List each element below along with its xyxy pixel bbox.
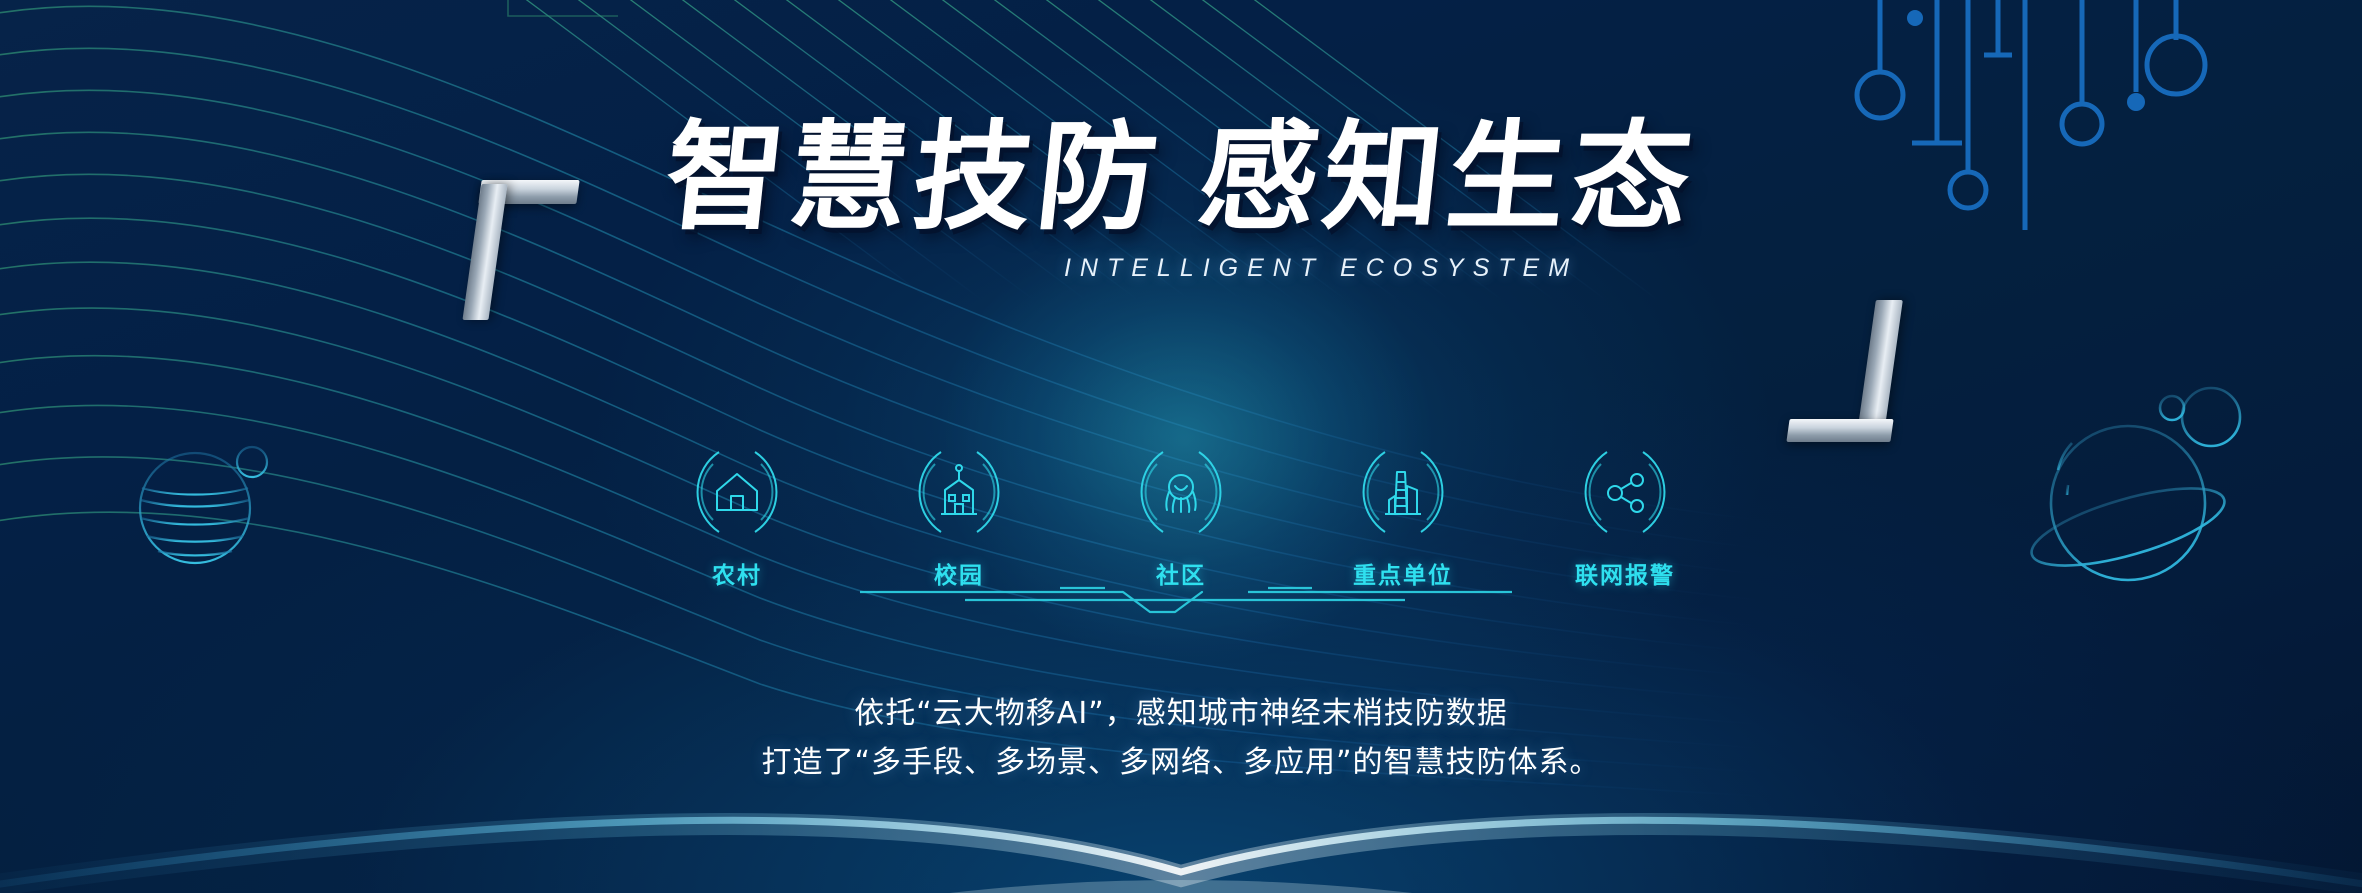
subtitle-english: INTELLIGENT ECOSYSTEM xyxy=(0,254,2362,283)
network-share-icon xyxy=(1571,438,1679,546)
bracket-bottom-right xyxy=(1782,300,1894,442)
bracket-bottom-right-vertical xyxy=(1858,300,1903,426)
description-line-2: 打造了“多手段、多场景、多网络、多应用”的智慧技防体系。 xyxy=(0,739,2362,788)
school-building-icon xyxy=(905,438,1013,546)
bracket-top-left xyxy=(472,180,578,320)
description-line-1: 依托“云大物移AI”，感知城市神经末梢技防数据 xyxy=(0,690,2362,739)
category-item-network-alarm[interactable]: 联网报警 xyxy=(1563,438,1687,590)
title-part-2: 感知生态 xyxy=(1193,108,1704,246)
category-item-community[interactable]: 社区 xyxy=(1119,438,1243,590)
v-notch-divider xyxy=(0,580,2362,624)
banner-root: 智慧技防感知生态 INTELLIGENT ECOSYSTEM 农村 xyxy=(0,0,2362,893)
category-item-campus[interactable]: 校园 xyxy=(897,438,1021,590)
title-part-1: 智慧技防 xyxy=(659,108,1170,246)
city-towers-icon xyxy=(1349,438,1457,546)
page-title: 智慧技防感知生态 xyxy=(660,118,1702,236)
description-block: 依托“云大物移AI”，感知城市神经末梢技防数据 打造了“多手段、多场景、多网络、… xyxy=(0,690,2362,787)
category-item-rural[interactable]: 农村 xyxy=(675,438,799,590)
community-person-icon xyxy=(1127,438,1235,546)
title-block: 智慧技防感知生态 INTELLIGENT ECOSYSTEM xyxy=(0,118,2362,283)
category-icon-row: 农村 校园 xyxy=(0,438,2362,590)
category-item-key-units[interactable]: 重点单位 xyxy=(1341,438,1465,590)
house-icon xyxy=(683,438,791,546)
